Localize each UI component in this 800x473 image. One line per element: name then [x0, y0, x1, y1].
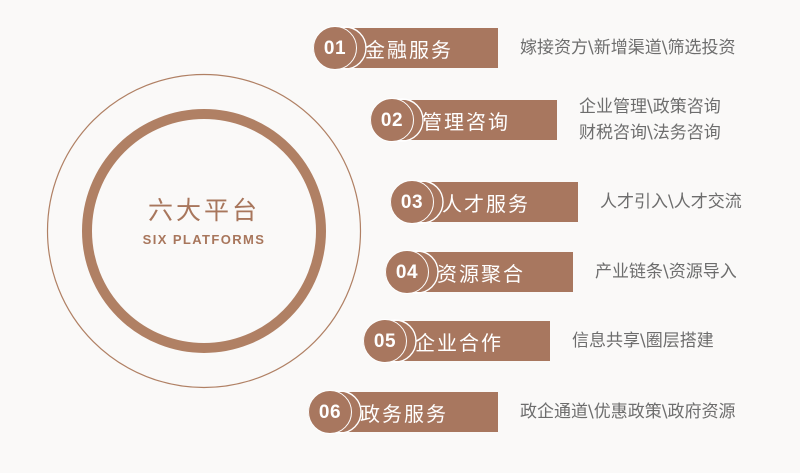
platform-pill-02[interactable]: 管理咨询 02 — [370, 100, 557, 140]
platform-description-line: 嫁接资方\新增渠道\筛选投资 — [520, 35, 735, 61]
platform-number-04: 04 — [396, 263, 418, 282]
platform-row-01[interactable]: 金融服务 01 嫁接资方\新增渠道\筛选投资 — [313, 25, 735, 71]
platform-title-02: 管理咨询 — [422, 106, 510, 135]
platform-title-04: 资源聚合 — [437, 258, 525, 287]
platform-number-05: 05 — [374, 332, 396, 351]
platform-description-06: 政企通道\优惠政策\政府资源 — [520, 399, 735, 425]
platform-title-03: 人才服务 — [442, 188, 530, 217]
infographic-canvas: 六大平台 SIX PLATFORMS 金融服务 01 嫁接资方\新增渠道\筛选投… — [0, 0, 800, 473]
platform-number-badge-01[interactable]: 01 — [313, 26, 357, 70]
platform-number-badge-03[interactable]: 03 — [390, 180, 434, 224]
platform-number-badge-04[interactable]: 04 — [385, 250, 429, 294]
platform-row-05[interactable]: 企业合作 05 信息共享\圈层搭建 — [363, 318, 714, 364]
platform-number-02: 02 — [381, 111, 403, 130]
platform-pill-03[interactable]: 人才服务 03 — [390, 182, 578, 222]
platform-title-01: 金融服务 — [365, 34, 453, 63]
platform-pill-04[interactable]: 资源聚合 04 — [385, 252, 573, 292]
platform-description-05: 信息共享\圈层搭建 — [572, 328, 714, 354]
platform-row-06[interactable]: 政务服务 06 政企通道\优惠政策\政府资源 — [308, 389, 735, 435]
platform-description-line: 信息共享\圈层搭建 — [572, 328, 714, 354]
platform-description-line: 政企通道\优惠政策\政府资源 — [520, 399, 735, 425]
platform-row-02[interactable]: 管理咨询 02 企业管理\政策咨询 财税咨询\法务咨询 — [370, 97, 721, 143]
platform-description-line: 财税咨询\法务咨询 — [579, 120, 721, 146]
platform-number-badge-02[interactable]: 02 — [370, 98, 414, 142]
platform-row-04[interactable]: 资源聚合 04 产业链条\资源导入 — [385, 249, 737, 295]
platform-pill-01[interactable]: 金融服务 01 — [313, 28, 498, 68]
platform-number-badge-06[interactable]: 06 — [308, 390, 352, 434]
inner-thick-ring — [87, 114, 321, 348]
platform-description-01: 嫁接资方\新增渠道\筛选投资 — [520, 35, 735, 61]
platform-description-03: 人才引入\人才交流 — [600, 189, 742, 215]
platform-title-05: 企业合作 — [415, 327, 503, 356]
platform-number-01: 01 — [324, 39, 346, 58]
platform-pill-06[interactable]: 政务服务 06 — [308, 392, 498, 432]
platform-number-06: 06 — [319, 403, 341, 422]
platform-row-03[interactable]: 人才服务 03 人才引入\人才交流 — [390, 179, 742, 225]
platform-number-03: 03 — [401, 193, 423, 212]
platform-description-line: 企业管理\政策咨询 — [579, 94, 721, 120]
platform-description-04: 产业链条\资源导入 — [595, 259, 737, 285]
platform-description-line: 产业链条\资源导入 — [595, 259, 737, 285]
platform-pill-05[interactable]: 企业合作 05 — [363, 321, 550, 361]
platform-number-badge-05[interactable]: 05 — [363, 319, 407, 363]
platform-description-02: 企业管理\政策咨询 财税咨询\法务咨询 — [579, 94, 721, 146]
platform-description-line: 人才引入\人才交流 — [600, 189, 742, 215]
platform-title-06: 政务服务 — [360, 398, 448, 427]
outer-thin-ring — [48, 75, 361, 388]
